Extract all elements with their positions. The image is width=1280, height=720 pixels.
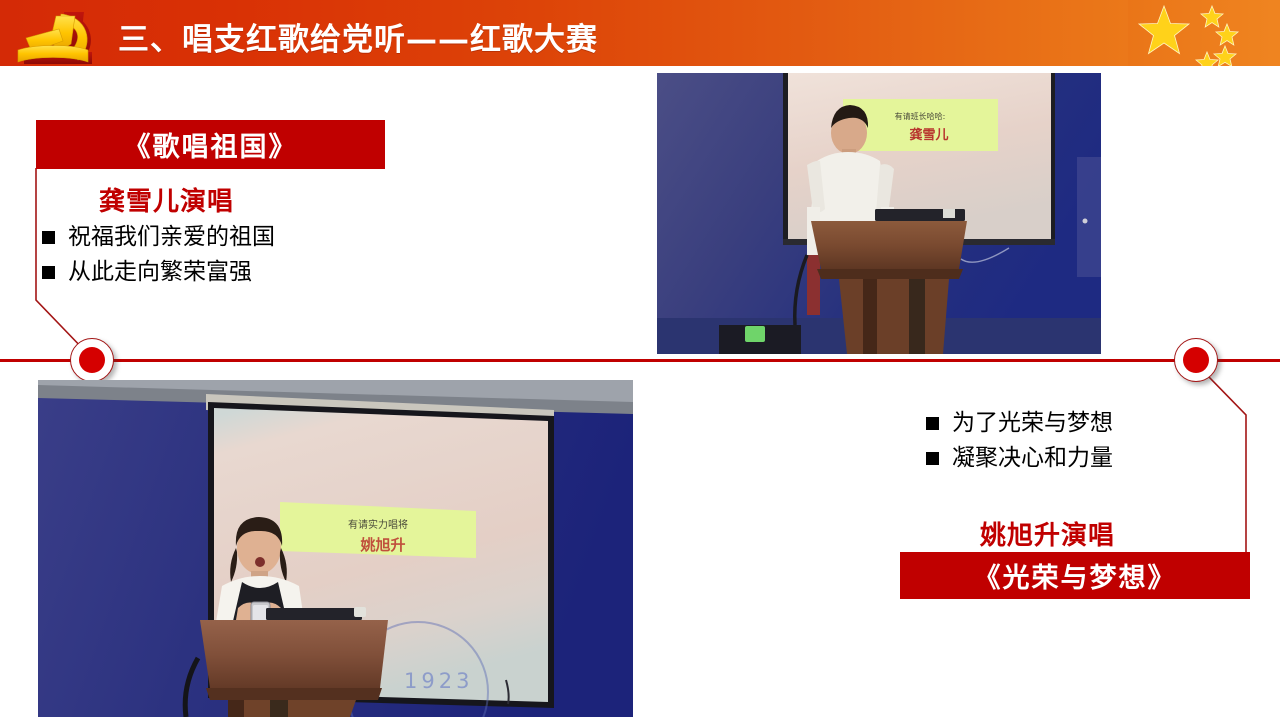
svg-text:1923: 1923 <box>404 669 473 693</box>
photo-bottom-left: 有请实力唱将 姚旭升 1923 <box>38 380 633 717</box>
singer-name-left: 龚雪儿演唱 <box>99 181 234 218</box>
china-flag-stars-icon <box>1128 0 1274 66</box>
photo-bottom-left-image: 有请实力唱将 姚旭升 1923 <box>38 380 633 717</box>
bullet-square-icon <box>42 231 55 244</box>
lyric-text: 凝聚决心和力量 <box>952 447 1113 470</box>
song-title-banner-right: 《光荣与梦想》 <box>900 552 1250 599</box>
svg-text:姚旭升: 姚旭升 <box>359 536 405 554</box>
svg-text:有请实力唱将: 有请实力唱将 <box>348 518 408 531</box>
lyric-list-left: 祝福我们亲爱的祖国 从此走向繁荣富强 <box>42 226 275 296</box>
horizontal-divider <box>0 359 1280 362</box>
lyric-text: 祝福我们亲爱的祖国 <box>68 226 275 249</box>
svg-text:龚雪儿: 龚雪儿 <box>909 127 948 143</box>
bullet-square-icon <box>926 417 939 430</box>
list-item: 为了光荣与梦想 <box>926 412 1113 435</box>
list-item: 祝福我们亲爱的祖国 <box>42 226 275 249</box>
svg-text:有请班长哈哈:: 有请班长哈哈: <box>895 111 946 121</box>
page-title: 三、唱支红歌给党听——红歌大赛 <box>118 14 598 59</box>
connector-node-right <box>1174 338 1218 382</box>
list-item: 从此走向繁荣富强 <box>42 261 275 284</box>
lyric-text: 从此走向繁荣富强 <box>68 261 252 284</box>
lyric-list-right: 为了光荣与梦想 凝聚决心和力量 <box>926 412 1113 482</box>
photo-top-right: 有请班长哈哈: 龚雪儿 <box>657 73 1101 354</box>
slide-canvas: 三、唱支红歌给党听——红歌大赛 《歌唱祖国》 龚雪儿演唱 祝福我们亲爱的祖国 从… <box>0 0 1280 720</box>
bullet-square-icon <box>42 266 55 279</box>
list-item: 凝聚决心和力量 <box>926 447 1113 470</box>
song-title-banner-left: 《歌唱祖国》 <box>36 120 385 169</box>
lyric-text: 为了光荣与梦想 <box>952 412 1113 435</box>
party-emblem-hammer-sickle-icon <box>6 2 112 82</box>
bullet-square-icon <box>926 452 939 465</box>
photo-top-right-image: 有请班长哈哈: 龚雪儿 <box>657 73 1101 354</box>
connector-node-left <box>70 338 114 382</box>
singer-name-right: 姚旭升演唱 <box>980 515 1115 552</box>
